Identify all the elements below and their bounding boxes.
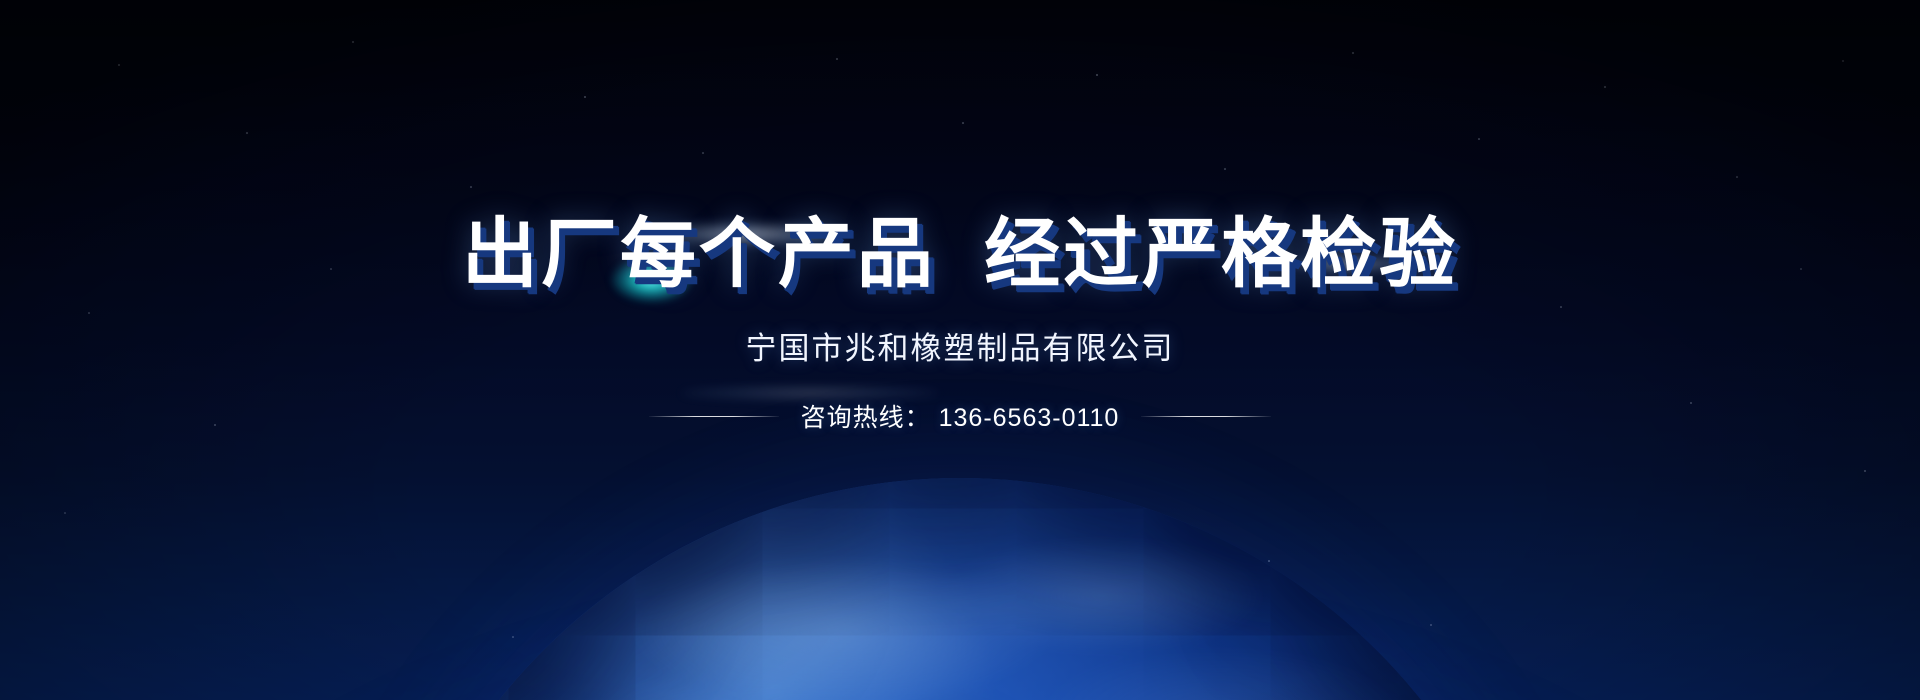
company-name: 宁国市兆和橡塑制品有限公司 <box>746 323 1175 368</box>
hero-banner: 出厂每个产品 经过严格检验 宁国市兆和橡塑制品有限公司 咨询热线： 136-65… <box>0 0 1920 700</box>
hotline-rule-left <box>649 416 779 417</box>
hotline-row: 咨询热线： 136-6563-0110 <box>649 398 1272 434</box>
banner-headline: 出厂每个产品 经过严格检验 <box>462 212 1458 297</box>
banner-content: 出厂每个产品 经过严格检验 宁国市兆和橡塑制品有限公司 咨询热线： 136-65… <box>0 0 1920 700</box>
hotline-text[interactable]: 咨询热线： 136-6563-0110 <box>801 398 1120 434</box>
hotline-rule-right <box>1141 416 1271 417</box>
